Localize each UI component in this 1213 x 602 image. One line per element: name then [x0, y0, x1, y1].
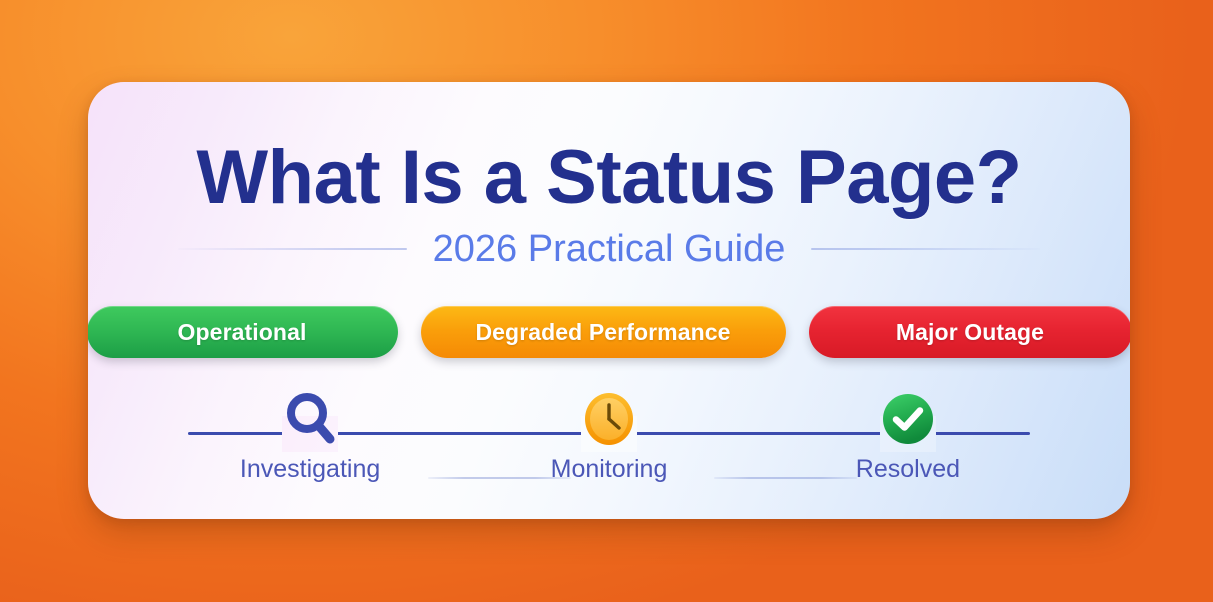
subtitle-rule-left: [178, 248, 407, 250]
timeline-steps: Investigating: [188, 382, 1030, 492]
timeline-step-label-investigating: Investigating: [240, 457, 380, 482]
magnifying-glass-icon: [282, 382, 338, 456]
incident-timeline: Investigating: [188, 382, 1030, 492]
status-badge-operational[interactable]: Operational: [88, 306, 398, 358]
timeline-step-label-resolved: Resolved: [856, 457, 960, 482]
status-badge-major-outage-label: Major Outage: [896, 319, 1044, 346]
page-subtitle: 2026 Practical Guide: [433, 230, 786, 268]
subtitle-row: 2026 Practical Guide: [88, 230, 1130, 268]
status-badge-major-outage[interactable]: Major Outage: [809, 306, 1131, 358]
status-page-card: What Is a Status Page? 2026 Practical Gu…: [88, 82, 1130, 519]
status-badge-group: Operational Degraded Performance Major O…: [88, 306, 1130, 358]
timeline-step-monitoring[interactable]: Monitoring: [509, 382, 709, 482]
timeline-step-resolved[interactable]: Resolved: [808, 382, 1008, 482]
status-badge-degraded-performance-label: Degraded Performance: [475, 319, 730, 346]
poster-canvas: What Is a Status Page? 2026 Practical Gu…: [0, 0, 1213, 602]
timeline-step-investigating[interactable]: Investigating: [210, 382, 410, 482]
check-circle-icon: [881, 382, 935, 456]
timeline-step-label-monitoring: Monitoring: [551, 457, 668, 482]
page-title: What Is a Status Page?: [88, 140, 1130, 216]
subtitle-rule-right: [811, 248, 1040, 250]
status-badge-operational-label: Operational: [178, 319, 307, 346]
clock-icon: [582, 382, 636, 456]
status-badge-degraded-performance[interactable]: Degraded Performance: [421, 306, 786, 358]
